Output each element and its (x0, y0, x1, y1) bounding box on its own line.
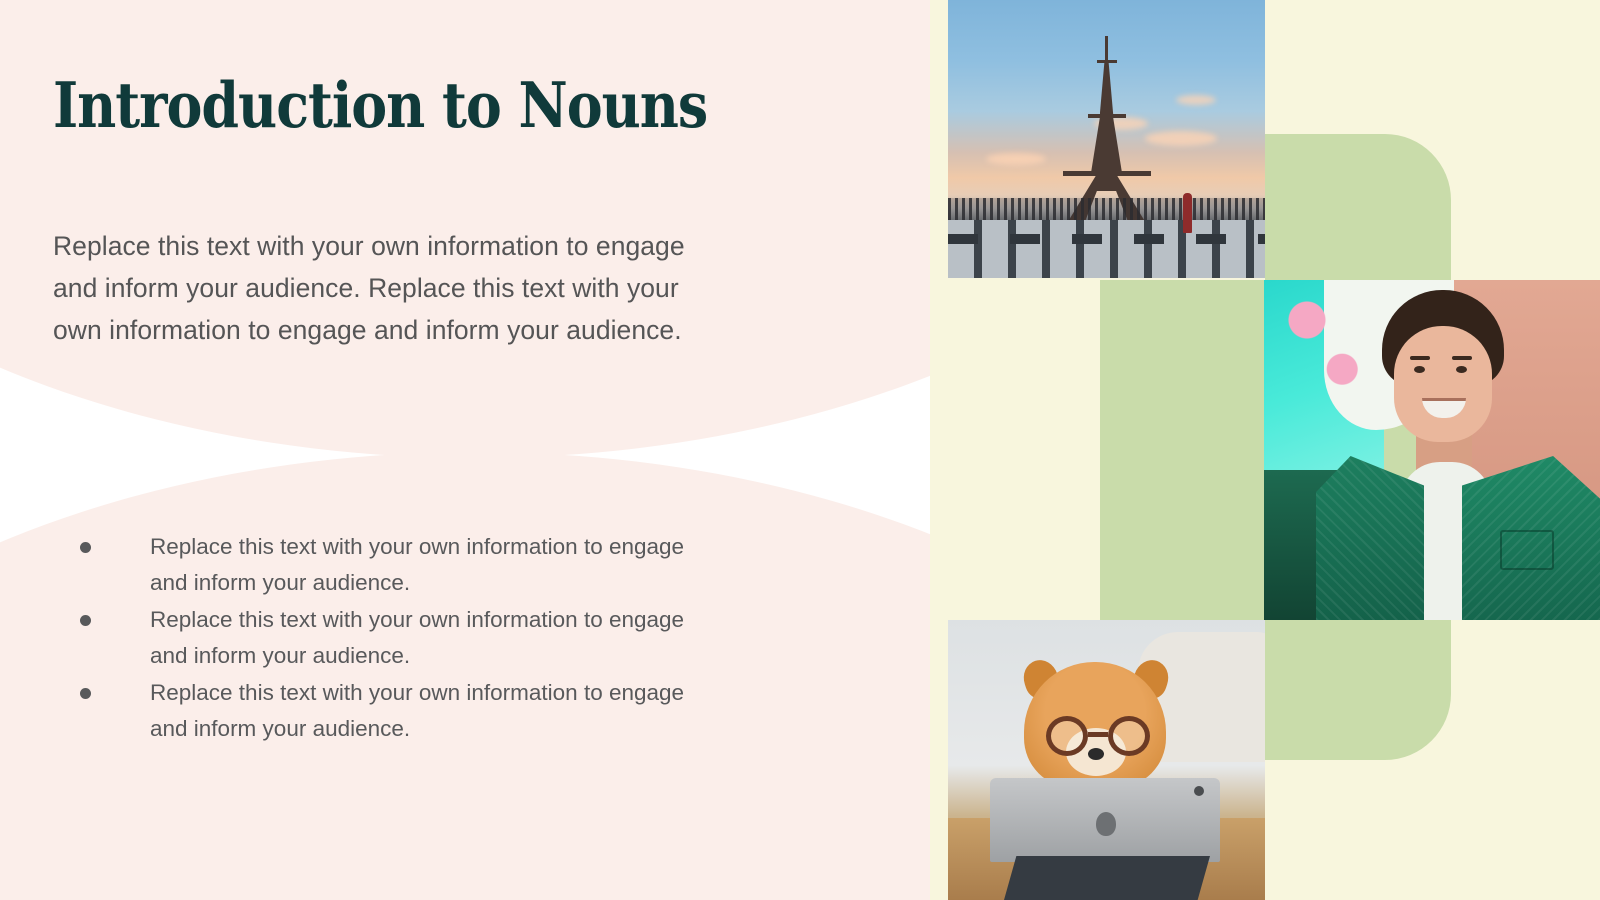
portrait-photo (1264, 280, 1600, 620)
list-item-label: Replace this text with your own informat… (150, 534, 684, 595)
cloud-shape (1176, 95, 1216, 105)
presentation-slide: Introduction to Nouns Replace this text … (0, 0, 1600, 900)
intro-paragraph: Replace this text with your own informat… (53, 225, 693, 351)
plaza-pavement (948, 220, 1265, 278)
tablet-stand (1004, 856, 1210, 900)
portrait-eyebrow (1410, 356, 1430, 360)
list-item: Replace this text with your own informat… (70, 675, 690, 747)
list-item-label: Replace this text with your own informat… (150, 607, 684, 668)
cloud-shape (1145, 131, 1217, 146)
portrait-eyebrow (1452, 356, 1472, 360)
person-in-red-coat (1183, 193, 1192, 233)
dog-nose (1088, 748, 1104, 760)
page-title: Introduction to Nouns (53, 73, 707, 137)
media-panel (930, 0, 1600, 900)
list-item: Replace this text with your own informat… (70, 602, 690, 674)
crowd-silhouettes (948, 198, 1265, 220)
tower-upper-section (1100, 62, 1114, 118)
portrait-shirt-left (1316, 456, 1424, 620)
bullet-dot-icon (80, 615, 91, 626)
portrait-eye (1414, 366, 1425, 373)
list-item-label: Replace this text with your own informat… (150, 680, 684, 741)
slide-text-column: Introduction to Nouns Replace this text … (0, 0, 930, 900)
glasses-lens (1046, 716, 1088, 756)
bullet-dot-icon (80, 542, 91, 553)
portrait-background-dots (1274, 290, 1384, 410)
eiffel-tower-photo (948, 0, 1265, 278)
cloud-shape (986, 153, 1046, 165)
portrait-eye (1456, 366, 1467, 373)
green-accent-block (1100, 280, 1264, 620)
glasses-bridge (1088, 732, 1108, 737)
tablet-camera (1194, 786, 1204, 796)
portrait-face (1394, 326, 1492, 442)
portrait-shirt-pocket (1500, 530, 1554, 570)
tablet-logo (1096, 812, 1116, 836)
list-item: Replace this text with your own informat… (70, 529, 690, 601)
bullet-list: Replace this text with your own informat… (70, 529, 690, 748)
dog-photo (948, 620, 1265, 900)
glasses-lens (1108, 716, 1150, 756)
bullet-dot-icon (80, 688, 91, 699)
